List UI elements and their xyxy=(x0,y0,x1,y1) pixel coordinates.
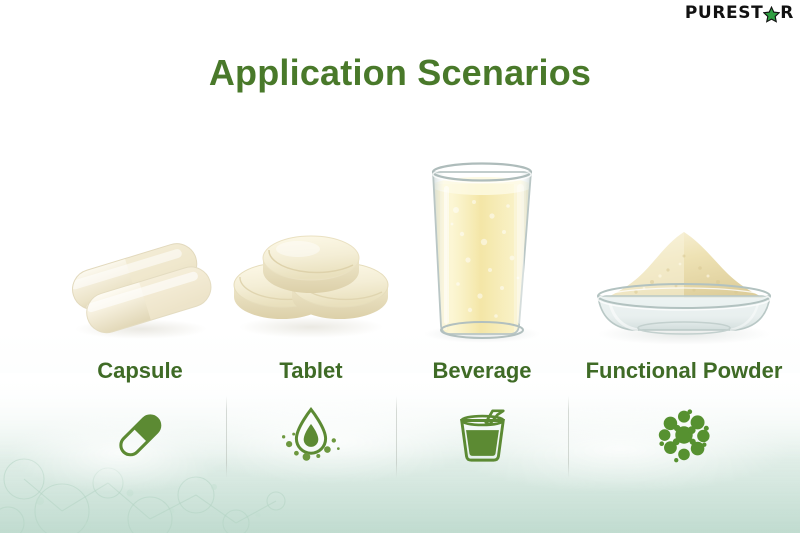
purestar-logo[interactable]: PUREST R xyxy=(685,3,794,23)
divider-2 xyxy=(396,396,397,478)
icon-cell-powder xyxy=(568,395,800,480)
capsule-icon xyxy=(111,406,169,469)
logo-text-before: PUREST xyxy=(685,5,763,22)
slide-canvas: PUREST R Application Scenarios xyxy=(0,0,800,533)
icon-cell-capsule xyxy=(55,395,225,480)
star-icon xyxy=(763,6,780,23)
powder-photo xyxy=(568,215,800,345)
logo-wordmark: PUREST R xyxy=(685,5,794,22)
label-functional-powder: Functional Powder xyxy=(568,358,800,384)
capsule-photo xyxy=(55,215,225,345)
divider-1 xyxy=(226,396,227,478)
drink-glass-icon xyxy=(453,405,511,470)
droplet-icon xyxy=(278,404,344,471)
icon-cell-beverage xyxy=(396,395,568,480)
logo-text-after: R xyxy=(780,5,794,22)
powder-granules-icon xyxy=(653,404,715,471)
label-capsule: Capsule xyxy=(55,358,225,384)
label-row: Capsule Tablet Beverage Functional Powde… xyxy=(0,358,800,388)
beverage-photo xyxy=(396,150,568,345)
photo-row xyxy=(0,150,800,345)
page-title: Application Scenarios xyxy=(0,52,800,94)
icon-cell-tablet xyxy=(226,395,396,480)
tablet-photo xyxy=(226,215,396,345)
icon-row xyxy=(0,395,800,480)
label-tablet: Tablet xyxy=(226,358,396,384)
label-beverage: Beverage xyxy=(396,358,568,384)
divider-3 xyxy=(568,396,569,478)
